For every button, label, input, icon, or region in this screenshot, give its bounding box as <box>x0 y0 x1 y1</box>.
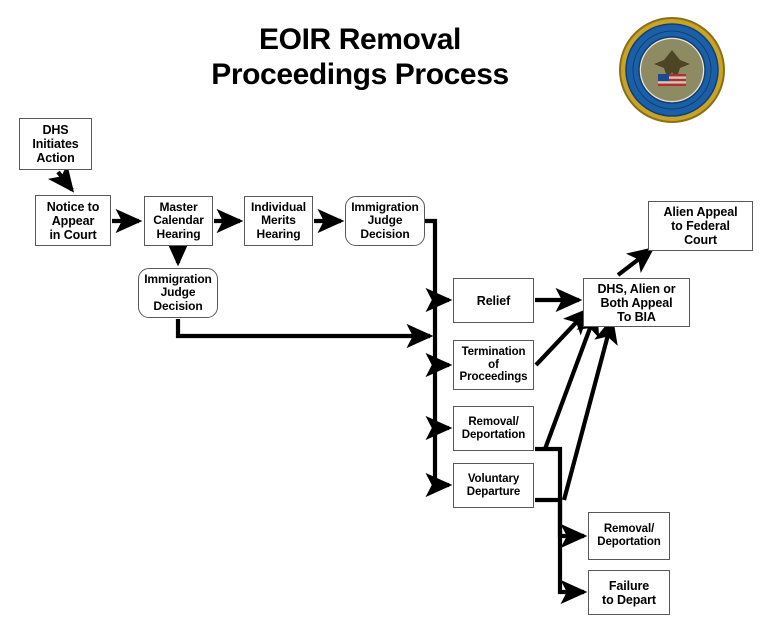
edge-dhs-to-notice <box>58 172 72 190</box>
node-relief[interactable]: Relief <box>453 278 534 323</box>
node-dhs-initiates[interactable]: DHS Initiates Action <box>19 118 92 170</box>
node-label: Termination of Proceedings <box>460 346 528 385</box>
node-label: Voluntary Departure <box>467 473 520 499</box>
node-notice-to-appear[interactable]: Notice to Appear in Court <box>35 195 111 246</box>
node-termination-of-proceedings[interactable]: Termination of Proceedings <box>453 340 534 390</box>
node-label: DHS Initiates Action <box>32 123 78 165</box>
edge-voluntary-to-failure <box>535 500 584 592</box>
node-voluntary-departure[interactable]: Voluntary Departure <box>453 463 534 508</box>
node-removal-deportation-1[interactable]: Removal/ Deportation <box>453 406 534 451</box>
node-label: Failure to Depart <box>602 579 656 607</box>
node-label: Relief <box>477 294 510 308</box>
edge-voluntary-to-bia <box>564 320 612 500</box>
flowchart-canvas: EOIR Removal Proceedings Process <box>0 0 768 635</box>
node-label: Individual Merits Hearing <box>251 201 306 241</box>
page-title: EOIR Removal Proceedings Process <box>150 22 570 92</box>
node-alien-appeal-federal-court[interactable]: Alien Appeal to Federal Court <box>648 201 753 251</box>
node-label: Removal/ Deportation <box>597 523 660 549</box>
edge-removal1-to-removal2 <box>535 449 584 536</box>
node-label: Immigration Judge Decision <box>144 273 212 313</box>
edge-bia-to-federal-court <box>618 249 652 275</box>
edge-ijd2-to-bus <box>425 221 435 296</box>
node-label: DHS, Alien or Both Appeal To BIA <box>597 282 675 324</box>
doj-eoir-seal <box>618 16 726 124</box>
node-label: Immigration Judge Decision <box>351 201 419 241</box>
node-removal-deportation-2[interactable]: Removal/ Deportation <box>588 512 670 560</box>
node-failure-to-depart[interactable]: Failure to Depart <box>588 570 670 615</box>
page-title-line1: EOIR Removal <box>150 22 570 57</box>
node-label: Alien Appeal to Federal Court <box>663 205 737 247</box>
edge-removal1-to-bia <box>545 312 596 449</box>
edge-termination-to-bia <box>536 310 588 365</box>
node-immigration-judge-decision-1[interactable]: Immigration Judge Decision <box>138 268 218 318</box>
node-label: Removal/ Deportation <box>462 416 525 442</box>
edge-ijd1-to-bus <box>178 319 430 336</box>
node-label: Master Calendar Hearing <box>153 201 204 241</box>
page-title-line2: Proceedings Process <box>150 57 570 92</box>
node-individual-merits-hearing[interactable]: Individual Merits Hearing <box>244 196 313 246</box>
node-immigration-judge-decision-2[interactable]: Immigration Judge Decision <box>345 196 425 246</box>
node-label: Notice to Appear in Court <box>47 200 100 242</box>
node-master-calendar-hearing[interactable]: Master Calendar Hearing <box>144 196 213 246</box>
node-bia-appeal[interactable]: DHS, Alien or Both Appeal To BIA <box>583 278 690 327</box>
